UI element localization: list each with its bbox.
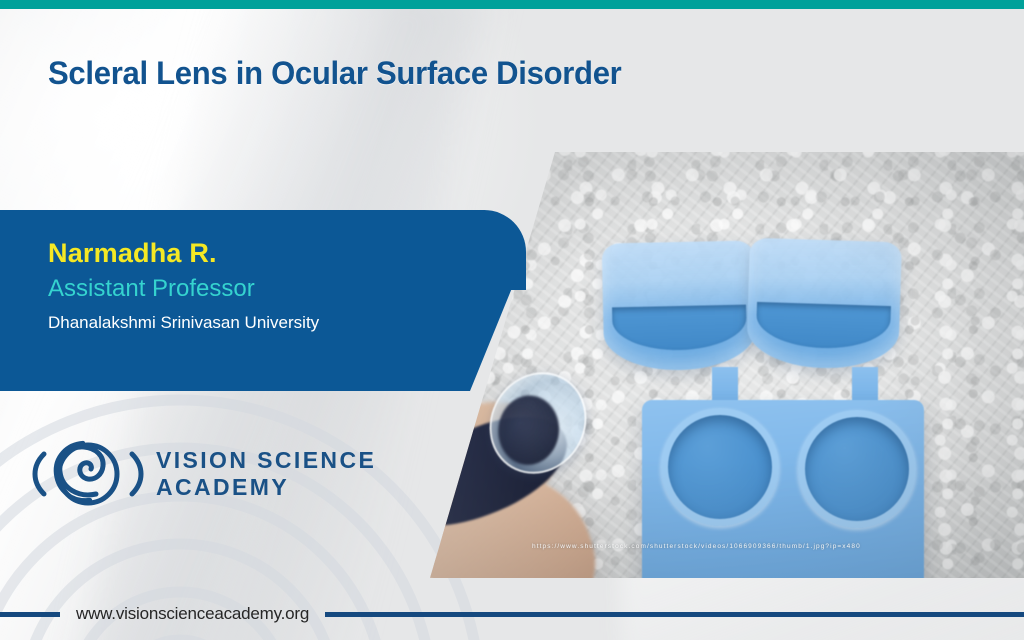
speaker-affiliation: Dhanalakshmi Srinivasan University bbox=[48, 311, 319, 335]
stock-photo-watermark: https://www.shutterstock.com/shutterstoc… bbox=[532, 543, 861, 550]
speaker-role: Assistant Professor bbox=[48, 273, 319, 304]
brand-line-2: ACADEMY bbox=[156, 474, 376, 501]
speaker-details: Narmadha R. Assistant Professor Dhanalak… bbox=[48, 238, 319, 335]
brand-lockup: VISION SCIENCE ACADEMY bbox=[24, 432, 376, 516]
speaker-name: Narmadha R. bbox=[48, 238, 319, 270]
footer-url: www.visionscienceacademy.org bbox=[60, 604, 325, 624]
footer: www.visionscienceacademy.org bbox=[0, 588, 1024, 640]
presentation-slide: Scleral Lens in Ocular Surface Disorder … bbox=[0, 0, 1024, 640]
brand-line-1: VISION SCIENCE bbox=[156, 447, 376, 473]
footer-rule-left bbox=[0, 612, 60, 617]
footer-rule-right bbox=[325, 612, 1024, 617]
page-title: Scleral Lens in Ocular Surface Disorder bbox=[48, 55, 621, 92]
vision-science-academy-logo-icon bbox=[24, 432, 152, 516]
top-accent-bar bbox=[0, 0, 1024, 9]
brand-wordmark: VISION SCIENCE ACADEMY bbox=[156, 447, 376, 501]
